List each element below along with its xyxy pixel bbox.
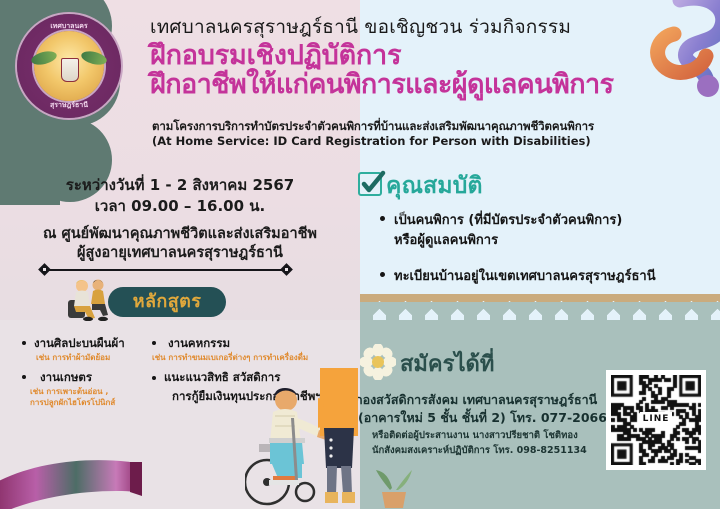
emblem-shield-icon (61, 58, 79, 82)
standing-person-illustration (318, 368, 360, 509)
curriculum-item-example: เช่น การทำผ้ามัดย้อม (36, 351, 110, 364)
event-venue-line2: ผู้สูงอายุเทศบาลนครสุราษฎร์ธานี (6, 241, 354, 264)
qualification-item-line1: ทะเบียนบ้านอยู่ในเขตเทศบาลนครสุราษฎร์ธาน… (394, 265, 656, 286)
curriculum-item-example2: การปลูกผักไฮโดรโปนิกส์ (30, 396, 115, 409)
curriculum-item-example: เช่น การทำขนมเบเกอรี่ต่างๆ การทำเครื่องด… (152, 351, 308, 364)
divider-diamond-left-center (43, 268, 46, 271)
potted-plant-icon (372, 466, 414, 509)
curriculum-item-title: แนะแนวสิทธิ สวัสดิการ (164, 369, 280, 387)
checkbox-icon (358, 172, 382, 196)
curriculum-bullet-dot (152, 341, 156, 345)
event-time: เวลา 09.00 – 16.00 น. (10, 194, 350, 218)
qr-line-label: LINE (640, 412, 672, 426)
poster-title: ฝึกอบรมเชิงปฏิบัติการ ฝึกอาชีพให้แก่คนพิ… (150, 42, 695, 100)
divider-diamond-right-center (285, 268, 288, 271)
apply-heading: สมัครได้ที่ (400, 346, 494, 381)
poster-title-line1: ฝึกอบรมเชิงปฏิบัติการ (150, 42, 695, 71)
curriculum-heading-label: หลักสูตร (108, 287, 226, 317)
curriculum-heading-pill: หลักสูตร (108, 287, 226, 317)
check-mark-icon (358, 168, 388, 198)
curriculum-bullet-dot (22, 341, 26, 345)
emblem-text-bottom: สุราษฎร์ธานี (17, 100, 121, 111)
curriculum-bullet-dot (22, 375, 26, 379)
qualification-item-line2: หรือผู้ดูแลคนพิการ (394, 229, 498, 250)
flower-icon (360, 344, 396, 380)
poster-subtitle-english: (At Home Service: ID Card Registration f… (152, 134, 692, 148)
qualification-bullet-dot (380, 272, 385, 277)
section-divider (44, 269, 286, 271)
zigzag-divider (360, 302, 720, 326)
apply-contact-line2: นักสังคมสงเคราะห์ปฏิบัติการ โทร. 098-825… (372, 443, 612, 458)
poster-title-line2: ฝึกอาชีพให้แก่คนพิการและผู้ดูแลคนพิการ (150, 71, 695, 100)
qualification-item-line1: เป็นคนพิการ (ที่มีบัตรประจำตัวคนพิการ) (394, 209, 622, 230)
apply-office-line2: (อาคารใหม่ 5 ชั้น ชั้นที่ 2) โทร. 077-20… (358, 408, 608, 428)
ribbon-decoration (0, 430, 170, 509)
qualifications-heading: คุณสมบัติ (386, 168, 483, 204)
apply-contact-line1: หรือติดต่อผู้ประสานงาน นางสาวปรียชาติ โช… (372, 428, 612, 443)
curriculum-bullet-dot (152, 376, 156, 380)
qualification-bullet-dot (380, 216, 385, 221)
municipality-emblem: เทศบาลนคร สุราษฎร์ธานี (17, 14, 121, 118)
poster-root: เทศบาลนคร สุราษฎร์ธานี เทศบาลนครสุราษฎร์… (0, 0, 720, 509)
organization-line: เทศบาลนครสุราษฎร์ธานี ขอเชิญชวน ร่วมกิจก… (150, 12, 670, 42)
apply-office-line1: กองสวัสดิการสังคม เทศบาลนครสุราษฎร์ธานี (355, 390, 605, 410)
